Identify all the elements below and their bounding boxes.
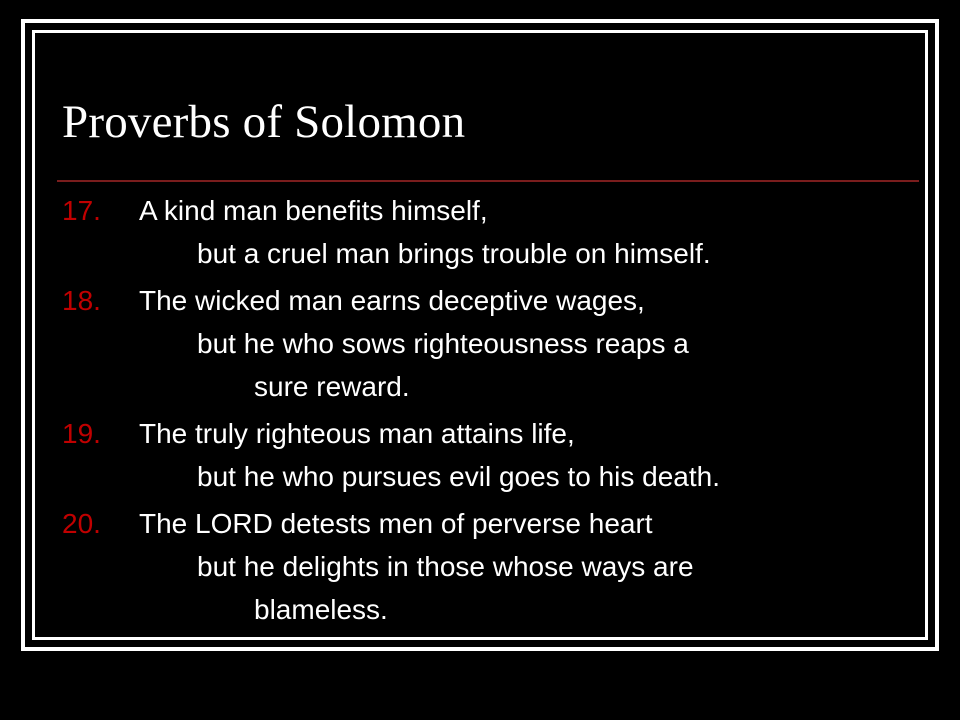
title-divider-rule — [57, 180, 919, 182]
slide-content: Proverbs of Solomon 17.A kind man benefi… — [0, 0, 960, 720]
proverb-line: but he who sows righteousness reaps a — [0, 322, 960, 365]
proverb-text-block: The truly righteous man attains life,but… — [0, 412, 960, 498]
list-item: 18.The wicked man earns deceptive wages,… — [0, 279, 960, 408]
proverb-number: 20. — [62, 502, 124, 545]
page-title: Proverbs of Solomon — [62, 96, 922, 149]
proverb-number: 17. — [62, 189, 124, 232]
proverb-text-block: A kind man benefits himself,but a cruel … — [0, 189, 960, 275]
proverb-line: The LORD detests men of perverse heart — [0, 502, 960, 545]
proverb-number: 18. — [62, 279, 124, 322]
list-item: 17.A kind man benefits himself,but a cru… — [0, 189, 960, 275]
proverb-line: but a cruel man brings trouble on himsel… — [0, 232, 960, 275]
proverb-line: blameless. — [0, 588, 960, 631]
proverb-line: The truly righteous man attains life, — [0, 412, 960, 455]
proverb-text-block: The wicked man earns deceptive wages,but… — [0, 279, 960, 408]
proverb-text-block: The LORD detests men of perverse heartbu… — [0, 502, 960, 631]
proverb-line: sure reward. — [0, 365, 960, 408]
list-item: 19.The truly righteous man attains life,… — [0, 412, 960, 498]
slide-root: Proverbs of Solomon 17.A kind man benefi… — [0, 0, 960, 720]
proverb-line: The wicked man earns deceptive wages, — [0, 279, 960, 322]
proverb-list: 17.A kind man benefits himself,but a cru… — [0, 189, 960, 635]
proverb-number: 19. — [62, 412, 124, 455]
proverb-line: A kind man benefits himself, — [0, 189, 960, 232]
list-item: 20.The LORD detests men of perverse hear… — [0, 502, 960, 631]
proverb-line: but he delights in those whose ways are — [0, 545, 960, 588]
proverb-line: but he who pursues evil goes to his deat… — [0, 455, 960, 498]
